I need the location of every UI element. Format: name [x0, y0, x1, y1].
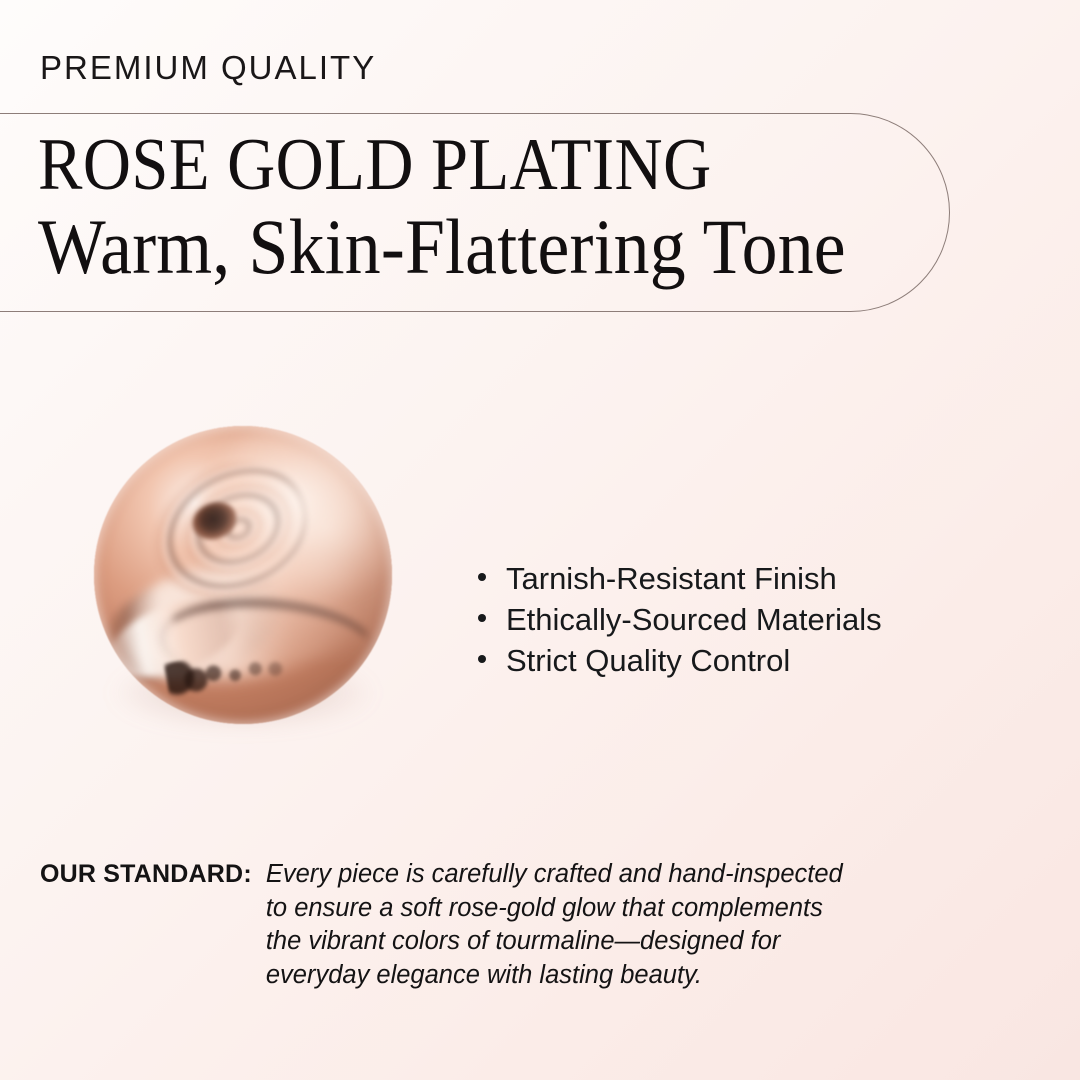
headline-block: ROSE GOLD PLATING Warm, Skin-Flattering …: [38, 126, 938, 288]
standard-body-line-4: everyday elegance with lasting beauty.: [266, 959, 956, 993]
bullet-dot-icon: [478, 655, 486, 663]
standard-body-line-2: to ensure a soft rose-gold glow that com…: [266, 892, 956, 926]
headline-line-2: Warm, Skin-Flattering Tone: [38, 206, 866, 288]
bullet-dot-icon: [478, 614, 486, 622]
standard-body: Every piece is carefully crafted and han…: [266, 858, 956, 992]
eyebrow-label: PREMIUM QUALITY: [40, 48, 376, 88]
promo-card: PREMIUM QUALITY ROSE GOLD PLATING Warm, …: [0, 0, 1080, 1080]
bullet-dot-icon: [478, 573, 486, 581]
standard-body-line-3: the vibrant colors of tourmaline—designe…: [266, 925, 956, 959]
metallic-sphere-icon: [94, 426, 392, 724]
standard-body-line-1: Every piece is carefully crafted and han…: [266, 858, 956, 892]
feature-label: Ethically-Sourced Materials: [506, 599, 882, 640]
product-image: [94, 426, 392, 724]
standard-label: OUR STANDARD:: [40, 858, 266, 892]
list-item: Strict Quality Control: [478, 640, 882, 681]
feature-list: Tarnish-Resistant Finish Ethically-Sourc…: [478, 558, 882, 681]
list-item: Ethically-Sourced Materials: [478, 599, 882, 640]
sphere-rim-light: [94, 426, 392, 724]
standard-statement: OUR STANDARD: Every piece is carefully c…: [40, 858, 1040, 992]
feature-label: Tarnish-Resistant Finish: [506, 558, 837, 599]
list-item: Tarnish-Resistant Finish: [478, 558, 882, 599]
feature-label: Strict Quality Control: [506, 640, 790, 681]
headline-line-1: ROSE GOLD PLATING: [38, 126, 848, 204]
